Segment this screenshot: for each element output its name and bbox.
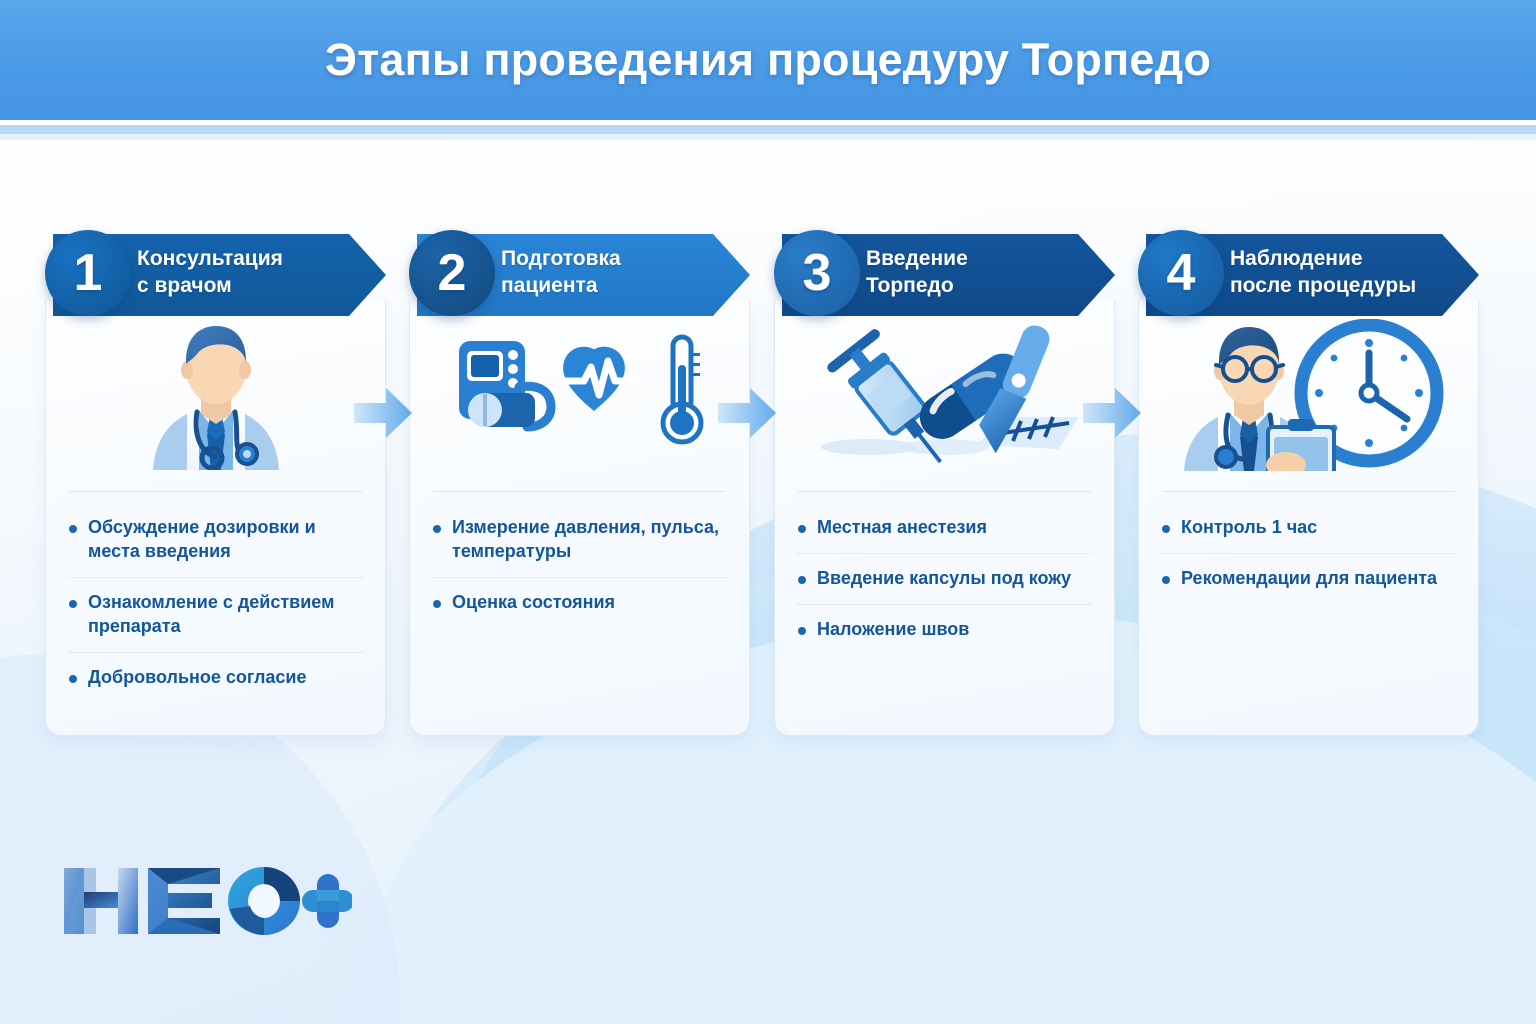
banner-stripe-pale [0,134,1536,140]
steps-row: Обсуждение дозировки и места введения Оз… [0,228,1536,738]
step-title: Введение Торпедо [866,246,1081,300]
list-item: Наложение швов [796,605,1093,655]
bullet-text: Рекомендации для пациента [1181,567,1437,591]
step-card-4-bullets: Контроль 1 час Рекомендации для пациента [1160,503,1457,604]
step-number: 1 [74,247,103,299]
step-title: Наблюдение после процедуры [1230,246,1445,300]
step-card-1-bullets: Обсуждение дозировки и места введения Оз… [67,503,364,703]
syringe-capsule-scalpel-icon [774,300,1115,490]
title-banner: Этапы проведения процедуру Торпедо [0,0,1536,120]
step-card-2-bullets: Измерение давления, пульса, температуры … [431,503,728,628]
step-title: Подготовка пациента [501,246,716,300]
bullet-dot-icon [433,525,441,533]
list-item: Измерение давления, пульса, температуры [431,503,728,578]
list-item: Ознакомление с действием препарата [67,578,364,653]
step-title: Консультация с врачом [137,246,352,300]
list-item: Контроль 1 час [1160,503,1457,554]
bullet-dot-icon [1162,576,1170,584]
bullet-text: Введение капсулы под кожу [817,567,1071,591]
bullet-text: Наложение швов [817,618,969,642]
bullet-text: Местная анестезия [817,516,987,540]
list-item: Введение капсулы под кожу [796,554,1093,605]
bullet-dot-icon [69,675,77,683]
banner-stripe-blue [0,125,1536,134]
step-card-1[interactable]: Обсуждение дозировки и места введения Оз… [45,228,386,736]
logo-letter-e [148,868,220,934]
step-card-4-divider [1162,491,1455,492]
list-item: Оценка состояния [431,578,728,628]
bullet-dot-icon [798,525,806,533]
brand-logo[interactable] [62,862,352,947]
bullet-dot-icon [798,627,806,635]
bullet-dot-icon [433,600,441,608]
bullet-dot-icon [798,576,806,584]
bullet-dot-icon [69,525,77,533]
list-item: Добровольное согласие [67,653,364,703]
step-card-4[interactable]: Контроль 1 час Рекомендации для пациента… [1138,228,1479,736]
logo-plus-icon [302,874,352,928]
flow-arrow-icon [352,385,414,441]
step-number: 4 [1167,247,1196,299]
page-title: Этапы проведения процедуру Торпедо [325,34,1211,86]
list-item: Рекомендации для пациента [1160,554,1457,604]
step-number: 2 [438,247,467,299]
vitals-monitor-heart-thermometer-icon [409,300,750,490]
bullet-text: Контроль 1 час [1181,516,1317,540]
logo-letter-n [64,868,138,934]
bullet-text: Обсуждение дозировки и места введения [88,516,360,564]
bullet-text: Оценка состояния [452,591,615,615]
list-item: Обсуждение дозировки и места введения [67,503,364,578]
step-number: 3 [803,247,832,299]
step-card-1-divider [69,491,362,492]
bullet-dot-icon [69,600,77,608]
bullet-text: Ознакомление с действием препарата [88,591,360,639]
bullet-text: Добровольное согласие [88,666,307,690]
list-item: Местная анестезия [796,503,1093,554]
bullet-text: Измерение давления, пульса, температуры [452,516,724,564]
doctor-clipboard-clock-icon [1138,300,1479,490]
step-card-2-divider [433,491,726,492]
logo-letter-o [228,867,300,935]
doctor-stethoscope-icon [45,300,386,490]
step-card-3-bullets: Местная анестезия Введение капсулы под к… [796,503,1093,655]
flow-arrow-icon [1081,385,1143,441]
flow-arrow-icon [716,385,778,441]
bullet-dot-icon [1162,525,1170,533]
step-card-2[interactable]: Измерение давления, пульса, температуры … [409,228,750,736]
step-card-3-divider [798,491,1091,492]
step-card-3[interactable]: Местная анестезия Введение капсулы под к… [774,228,1115,736]
